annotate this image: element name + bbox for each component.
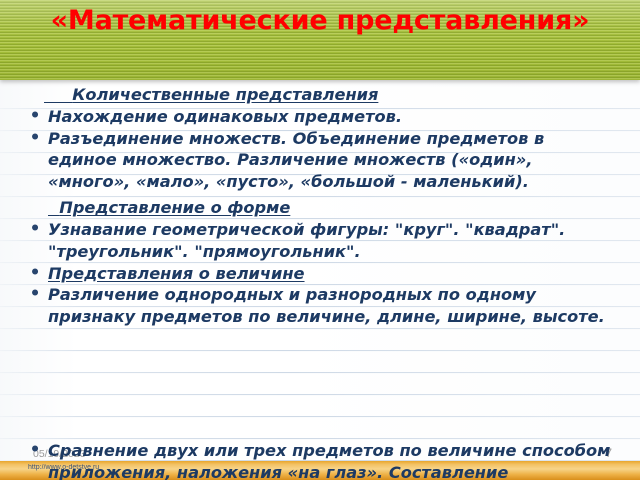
list-item: • Различение однородных и разнородных по… (0, 284, 640, 327)
bullet-icon: • (26, 263, 44, 285)
heading-text-2: Представление о форме (59, 198, 290, 217)
list-item: • Узнавание геометрической фигуры: "круг… (0, 219, 640, 262)
bullet-icon: • (26, 128, 44, 150)
list-item: • Нахождение одинаковых предметов. (0, 106, 640, 128)
bullet-icon: • (26, 219, 44, 241)
list-item: • Разъединение множеств. Объединение пре… (0, 128, 640, 193)
list-item-text: Разъединение множеств. Объединение предм… (44, 128, 614, 193)
bullet-icon: • (26, 106, 44, 128)
heading-lead-space-2 (48, 198, 59, 217)
footer-date: 05/19/2023 (33, 448, 86, 460)
bullet-icon: • (26, 284, 44, 306)
section-heading-quantitative-underline: Количественные представления (44, 85, 378, 104)
heading-text-1: Количественные представления (72, 85, 378, 104)
list-item-text: Нахождение одинаковых предметов. (44, 106, 614, 128)
section-heading-magnitude-underline: Представления о величине (48, 264, 305, 283)
footer-page-number: 7 (605, 446, 612, 460)
section-heading-magnitude: Представления о величине (44, 263, 614, 285)
slide-title: «Математические представления» (0, 0, 640, 39)
section-heading-shape: Представление о форме (0, 197, 640, 219)
slide-body: Количественные представления • Нахождени… (0, 84, 640, 327)
section-heading-quantitative: Количественные представления (0, 84, 640, 106)
section-heading-magnitude-row: • Представления о величине (0, 263, 640, 285)
title-banner: «Математические представления» (0, 0, 640, 80)
slide-root: «Математические представления» Количеств… (0, 0, 640, 480)
heading-lead-space-1 (44, 85, 72, 104)
list-item-text: Различение однородных и разнородных по о… (44, 284, 614, 327)
list-item-text: Узнавание геометрической фигуры: "круг".… (44, 219, 614, 262)
footer-url: http://www.o-detstve.ru (28, 463, 99, 472)
bottom-accent-bar: http://www.o-detstve.ru (0, 461, 640, 480)
section-heading-shape-underline: Представление о форме (48, 198, 290, 217)
